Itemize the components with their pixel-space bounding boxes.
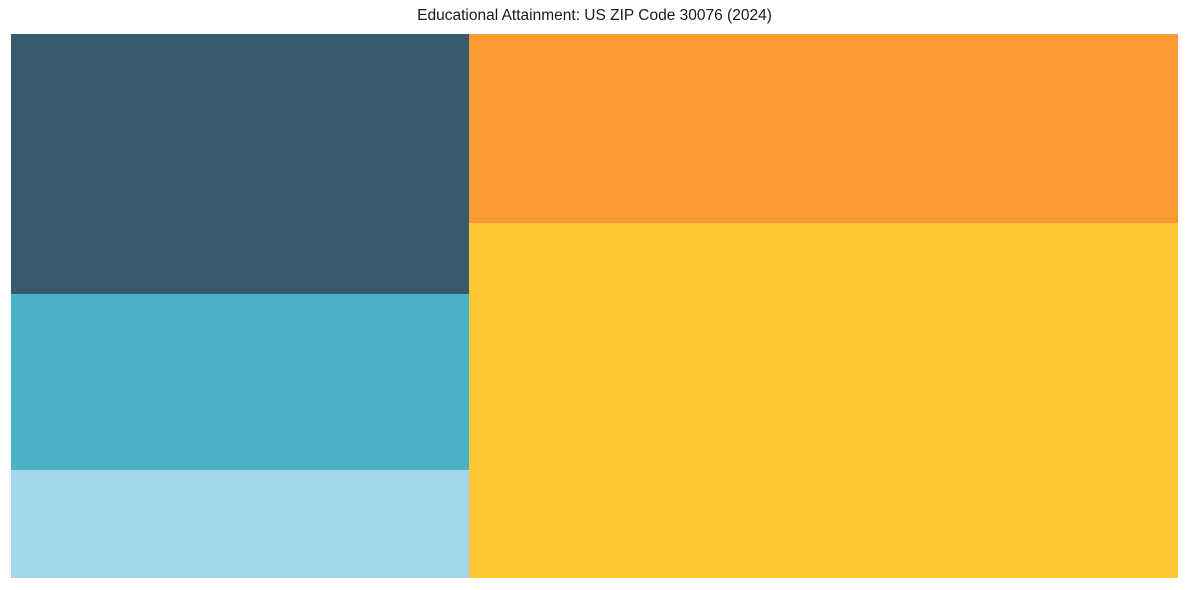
- chart-title: Educational Attainment: US ZIP Code 3007…: [0, 6, 1189, 25]
- treemap-plot-area: Bachelor's degreeGraduate or professiona…: [11, 34, 1178, 578]
- treemap-tile[interactable]: Bachelor's degree: [469, 223, 1178, 578]
- treemap-tile[interactable]: Some college or associate's degree: [11, 34, 469, 294]
- treemap-tile[interactable]: Graduate or professional degree: [469, 34, 1178, 223]
- figure-canvas: Educational Attainment: US ZIP Code 3007…: [0, 0, 1189, 590]
- treemap-tile[interactable]: Less than high school: [11, 470, 469, 578]
- treemap-tile[interactable]: High school graduate: [11, 294, 469, 470]
